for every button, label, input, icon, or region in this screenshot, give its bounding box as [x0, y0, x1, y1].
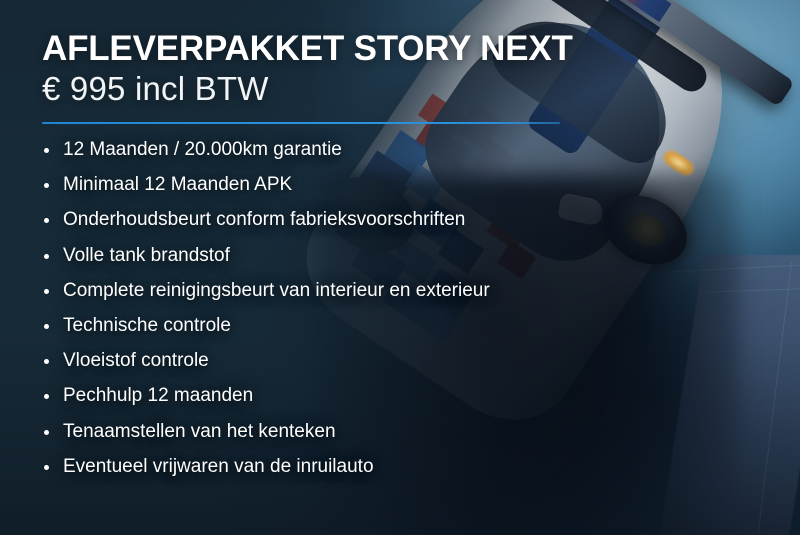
list-item: Volle tank brandstof	[42, 246, 800, 265]
feature-list: 12 Maanden / 20.000km garantie Minimaal …	[42, 140, 800, 476]
page-title: AFLEVERPAKKET STORY NEXT	[42, 30, 800, 67]
list-item: Eventueel vrijwaren van de inruilauto	[42, 457, 800, 476]
price-label: € 995 incl BTW	[42, 71, 800, 108]
list-item: Vloeistof controle	[42, 351, 800, 370]
list-item: Pechhulp 12 maanden	[42, 386, 800, 405]
list-item: Technische controle	[42, 316, 800, 335]
delivery-package-promo-card: AFLEVERPAKKET STORY NEXT € 995 incl BTW …	[0, 0, 800, 535]
list-item: Onderhoudsbeurt conform fabrieksvoorschr…	[42, 210, 800, 229]
list-item: Complete reinigingsbeurt van interieur e…	[42, 281, 800, 300]
list-item: 12 Maanden / 20.000km garantie	[42, 140, 800, 159]
content-column: AFLEVERPAKKET STORY NEXT € 995 incl BTW …	[0, 0, 800, 535]
list-item: Minimaal 12 Maanden APK	[42, 175, 800, 194]
list-item: Tenaamstellen van het kenteken	[42, 422, 800, 441]
title-divider	[42, 122, 560, 124]
